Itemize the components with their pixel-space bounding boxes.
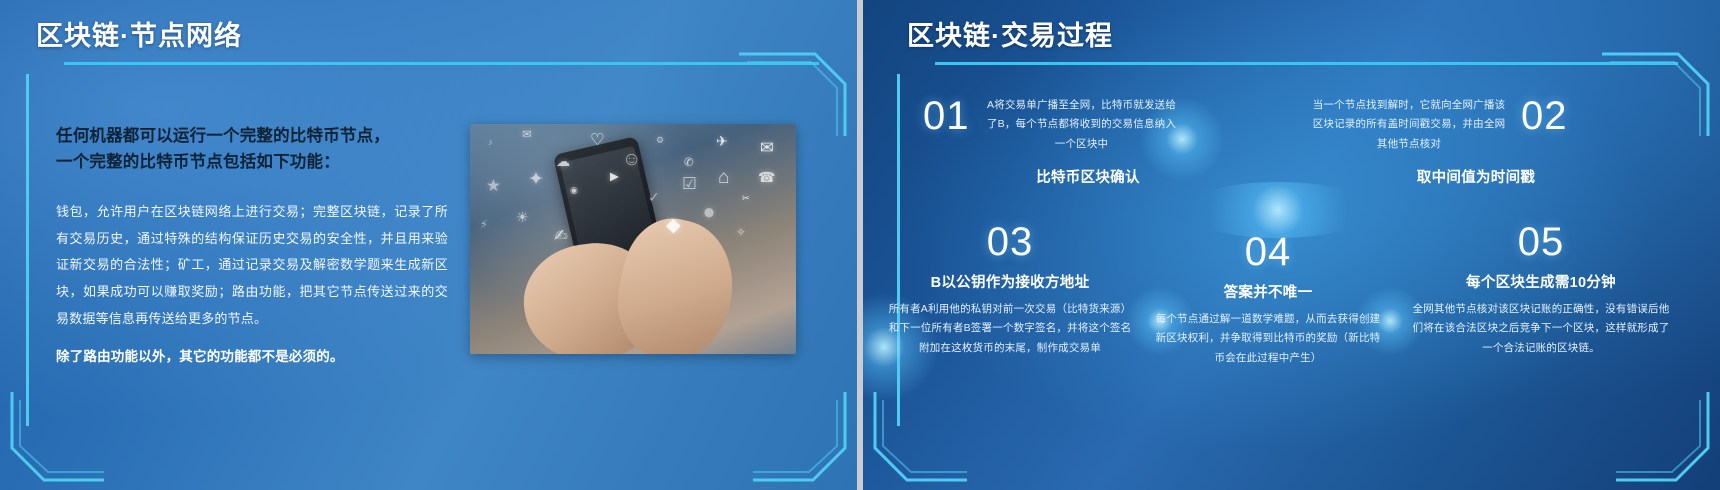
step-02-row: 当一个节点找到解时，它就向全网广播该区块记录的所有盖时间戳交易，并由全网其他节点… bbox=[1311, 96, 1641, 154]
left-content-block: 任何机器都可以运行一个完整的比特币节点， 一个完整的比特币节点包括如下功能： 钱… bbox=[56, 124, 448, 379]
step-01-description: A将交易单广播至全网，比特币就发送给了B，每个节点都将收到的交易信息纳入一个区块… bbox=[984, 96, 1180, 154]
slide-transaction-process: 区块链·交易过程 01 A将交易单广播至全网，比特币就发送给了B，每个节点都将收… bbox=[863, 0, 1720, 490]
slide-node-network: 区块链·节点网络 任何机器都可以运行一个完整的比特币节点， 一个完整的比特币节点… bbox=[0, 0, 857, 490]
floating-icon: ✉ bbox=[522, 130, 532, 142]
floating-icon: ✦ bbox=[528, 170, 544, 189]
step-03-title: B以公钥作为接收方地址 bbox=[885, 271, 1135, 292]
floating-icon: ✉ bbox=[760, 140, 774, 157]
floating-icon: ⚡ bbox=[480, 220, 488, 232]
step-04[interactable]: 04 答案并不唯一 每个节点通过解一道数学难题，从而去获得创建新区块权利，并争取… bbox=[1153, 232, 1383, 368]
floating-icon: ◉ bbox=[570, 186, 578, 195]
step-04-description: 每个节点通过解一道数学难题，从而去获得创建新区块权利，并争取得到比特币的奖励（新… bbox=[1153, 310, 1383, 368]
page-title: 区块链·节点网络 bbox=[36, 14, 242, 53]
step-05-number: 05 bbox=[1411, 222, 1671, 262]
step-03-description: 所有者A利用他的私钥对前一次交易（比特货来源）和下一位所有者B签署一个数字签名，… bbox=[885, 300, 1135, 358]
step-05-title: 每个区块生成需10分钟 bbox=[1411, 271, 1671, 292]
title-underline bbox=[64, 62, 819, 65]
left-body-conclusion: 除了路由功能以外，其它的功能都不是必须的。 bbox=[56, 345, 448, 365]
step-04-number: 04 bbox=[1153, 232, 1383, 272]
page-title: 区块链·交易过程 bbox=[907, 14, 1113, 53]
step-05[interactable]: 05 每个区块生成需10分钟 全网其他节点核对该区块记账的正确性，没有错误后他们… bbox=[1411, 222, 1671, 358]
corner-decoration-bottom-left-icon bbox=[873, 390, 969, 482]
slide-deck: 区块链·节点网络 任何机器都可以运行一个完整的比特币节点， 一个完整的比特币节点… bbox=[0, 0, 1720, 490]
photo-alt-text: 手持智能手机并有社交媒体图标漂浮的照片 bbox=[470, 124, 471, 125]
floating-icon: ▶ bbox=[610, 172, 619, 184]
floating-icon: ✆ bbox=[684, 158, 694, 170]
floating-icon: ✍ bbox=[554, 228, 568, 245]
phone-social-photo: ♪✉☁♡☺⚙✆✈★✦◉▶✓☑⌂✂⚡☀✍◆⬤✧☎✉ 手持智能手机并有社交媒体图标漂… bbox=[470, 124, 796, 354]
floating-icon: ✓ bbox=[648, 190, 660, 204]
step-01-title: 比特币区块确认 bbox=[923, 166, 1253, 187]
floating-icon: ☺ bbox=[622, 150, 641, 169]
step-04-title: 答案并不唯一 bbox=[1153, 281, 1383, 302]
floating-icon: ◆ bbox=[666, 216, 681, 235]
step-03[interactable]: 03 B以公钥作为接收方地址 所有者A利用他的私钥对前一次交易（比特货来源）和下… bbox=[885, 222, 1135, 358]
corner-decoration-bottom-left-icon bbox=[10, 390, 106, 482]
floating-icon: ☑ bbox=[682, 176, 697, 193]
floating-icon: ⌂ bbox=[718, 168, 729, 187]
corner-decoration-bottom-right-icon bbox=[751, 390, 847, 482]
floating-icon: ✧ bbox=[736, 228, 746, 240]
frame-left-bar bbox=[26, 74, 29, 426]
floating-icon: ✂ bbox=[742, 194, 750, 203]
step-01-number: 01 bbox=[923, 96, 970, 136]
floating-icon: ♡ bbox=[590, 132, 605, 149]
corner-decoration-bottom-right-icon bbox=[1614, 390, 1710, 482]
title-underline bbox=[935, 62, 1678, 65]
step-03-number: 03 bbox=[885, 222, 1135, 262]
floating-icon: ☎ bbox=[758, 170, 775, 184]
step-02-description: 当一个节点找到解时，它就向全网广播该区块记录的所有盖时间戳交易，并由全网其他节点… bbox=[1311, 96, 1507, 154]
left-heading: 任何机器都可以运行一个完整的比特币节点， 一个完整的比特币节点包括如下功能： bbox=[56, 124, 448, 175]
step-05-description: 全网其他节点核对该区块记账的正确性，没有错误后他们将在该合法区块之后竞争下一个区… bbox=[1411, 300, 1671, 358]
left-heading-line-2: 一个完整的比特币节点包括如下功能： bbox=[56, 150, 448, 176]
floating-icon: ✈ bbox=[716, 134, 728, 148]
step-01-row: 01 A将交易单广播至全网，比特币就发送给了B，每个节点都将收到的交易信息纳入一… bbox=[923, 96, 1253, 154]
floating-icon: ⚙ bbox=[656, 136, 664, 145]
step-01[interactable]: 01 A将交易单广播至全网，比特币就发送给了B，每个节点都将收到的交易信息纳入一… bbox=[923, 96, 1253, 187]
floating-icon: ⬤ bbox=[704, 208, 714, 217]
floating-icon: ★ bbox=[486, 178, 501, 195]
left-heading-line-1: 任何机器都可以运行一个完整的比特币节点， bbox=[56, 124, 448, 150]
floating-icon: ☁ bbox=[556, 154, 570, 168]
step-02-title: 取中间值为时间戳 bbox=[1311, 166, 1641, 187]
floating-icon: ☀ bbox=[516, 210, 529, 224]
step-02-number: 02 bbox=[1521, 96, 1568, 136]
step-02[interactable]: 当一个节点找到解时，它就向全网广播该区块记录的所有盖时间戳交易，并由全网其他节点… bbox=[1311, 96, 1641, 187]
floating-icon: ♪ bbox=[488, 138, 493, 147]
left-body-paragraph: 钱包，允许用户在区块链网络上进行交易；完整区块链，记录了所有交易历史，通过特殊的… bbox=[56, 199, 448, 332]
